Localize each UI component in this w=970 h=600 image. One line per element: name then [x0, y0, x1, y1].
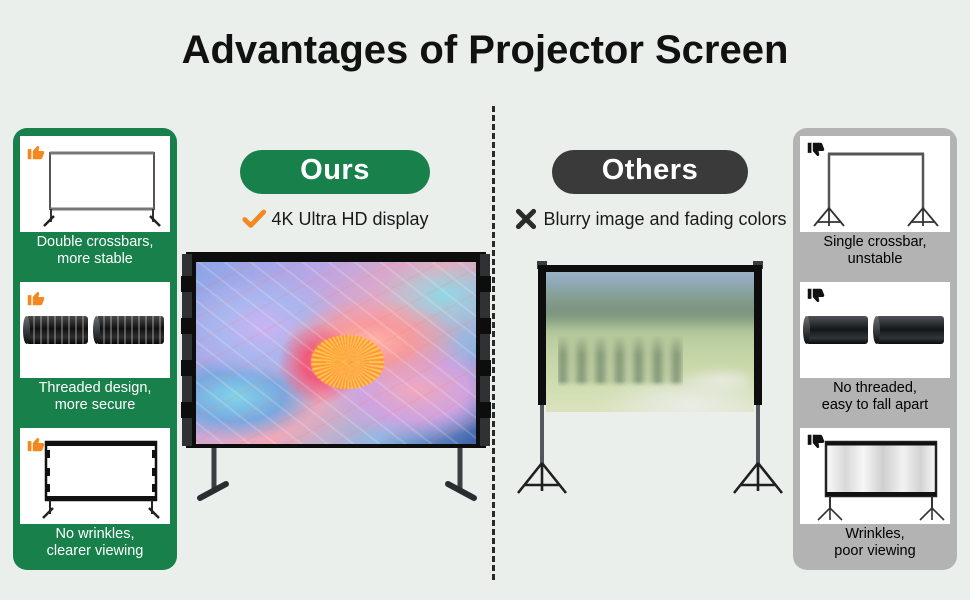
- check-icon: [241, 206, 267, 232]
- others-column: Others Blurry image and fading colors: [505, 150, 795, 232]
- ours-claim: 4K Ultra HD display: [185, 206, 485, 232]
- others-feature-2-image: [800, 282, 950, 378]
- ours-projector-screen: [178, 248, 494, 506]
- others-screen-image: [546, 272, 754, 412]
- others-feature-2: No threaded, easy to fall apart: [800, 282, 950, 416]
- ours-feature-2-image: [20, 282, 170, 378]
- infographic-canvas: Advantages of Projector Screen: [0, 0, 970, 600]
- others-feature-1-caption: Single crossbar, unstable: [800, 232, 950, 270]
- thumbs-down-icon: [805, 286, 827, 308]
- others-feature-3-image: [800, 428, 950, 524]
- others-projector-screen: [516, 255, 784, 505]
- cross-icon: [513, 206, 539, 232]
- others-feature-1-image: [800, 136, 950, 232]
- ours-feature-2-caption: Threaded design, more secure: [20, 378, 170, 416]
- others-feature-3: Wrinkles, poor viewing: [800, 428, 950, 562]
- others-badge: Others: [552, 150, 748, 194]
- ours-feature-3-caption: No wrinkles, clearer viewing: [20, 524, 170, 562]
- ours-column: Ours 4K Ultra HD display: [185, 150, 485, 232]
- ours-feature-1-image: [20, 136, 170, 232]
- ours-feature-3-image: [20, 428, 170, 524]
- thumbs-down-icon: [805, 140, 827, 162]
- page-title: Advantages of Projector Screen: [0, 28, 970, 73]
- thumbs-up-icon: [25, 286, 47, 308]
- others-feature-3-caption: Wrinkles, poor viewing: [800, 524, 950, 562]
- ours-claim-text: 4K Ultra HD display: [271, 209, 428, 230]
- ours-feature-3: No wrinkles, clearer viewing: [20, 428, 170, 562]
- others-feature-panel: Single crossbar, unstable No threaded, e…: [793, 128, 957, 570]
- others-feature-1: Single crossbar, unstable: [800, 136, 950, 270]
- others-feature-2-caption: No threaded, easy to fall apart: [800, 378, 950, 416]
- ours-feature-panel: Double crossbars, more stable Threaded d…: [13, 128, 177, 570]
- ours-feature-2: Threaded design, more secure: [20, 282, 170, 416]
- thumbs-down-icon: [805, 432, 827, 454]
- ours-feature-1-caption: Double crossbars, more stable: [20, 232, 170, 270]
- thumbs-up-icon: [25, 140, 47, 162]
- ours-feature-1: Double crossbars, more stable: [20, 136, 170, 270]
- ours-badge: Ours: [240, 150, 430, 194]
- ours-screen-image: [196, 262, 476, 444]
- others-claim-text: Blurry image and fading colors: [543, 209, 786, 230]
- thumbs-up-icon: [25, 432, 47, 454]
- others-claim: Blurry image and fading colors: [505, 206, 795, 232]
